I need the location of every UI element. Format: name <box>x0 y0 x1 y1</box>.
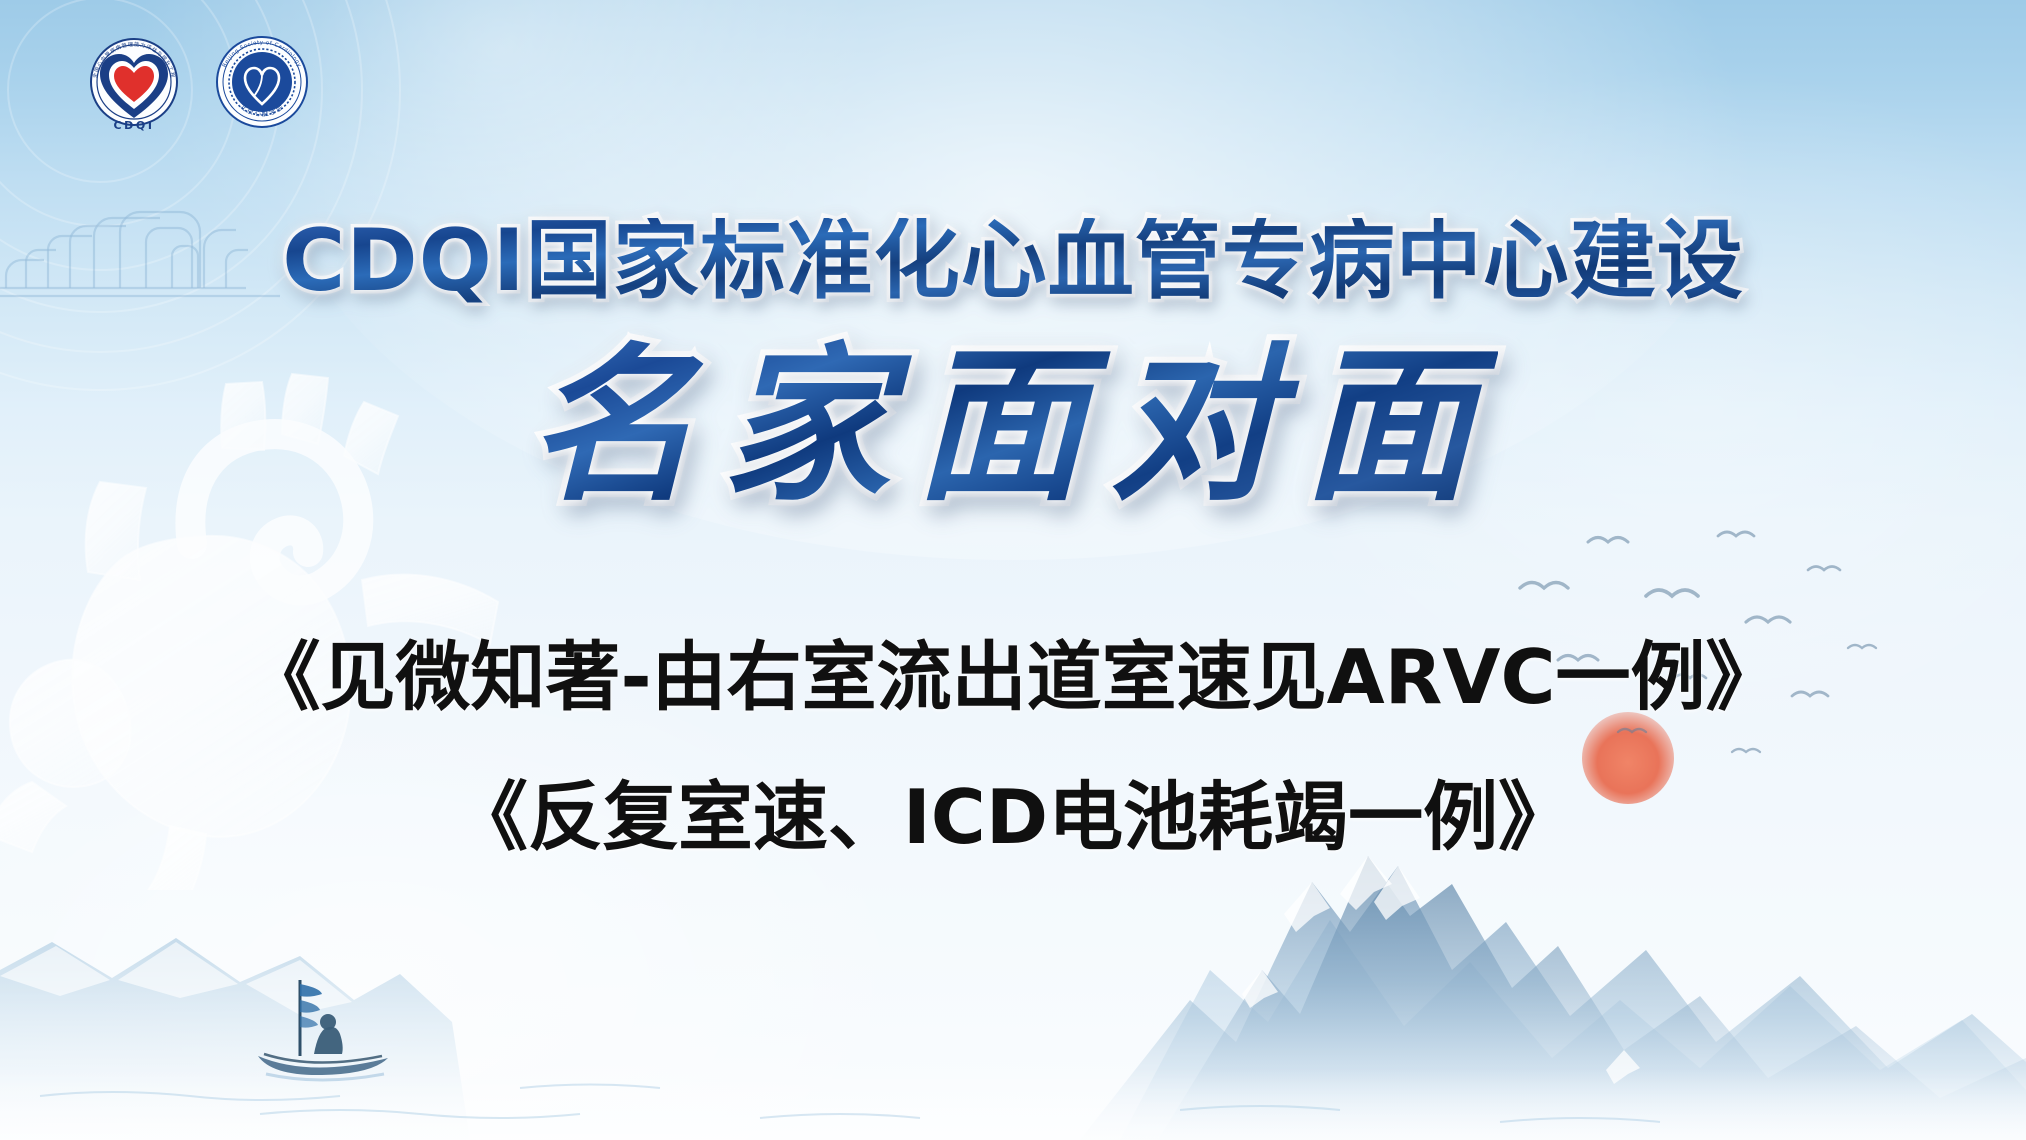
series-name: 名家面对面 <box>528 333 1498 518</box>
cdqi-acronym: CDQI <box>113 119 154 132</box>
session-title-1: 《见微知著-由右室流出道室速见ARVC一例》 <box>245 616 1780 725</box>
poster-text-block: CDQI国家标准化心血管专病中心建设 CDQI国家标准化心血管专病中心建设 名家… <box>0 0 2026 1140</box>
cdqi-logo: 全国心血管疾病管理能力评估与提升工程 CDQI <box>82 30 186 134</box>
logo-group: 全国心血管疾病管理能力评估与提升工程 CDQI Beijing Society … <box>82 30 314 134</box>
session-title-2: 《反复室速、ICD电池耗竭一例》 <box>453 756 1573 865</box>
poster-canvas: 全国心血管疾病管理能力评估与提升工程 CDQI Beijing Society … <box>0 0 2026 1140</box>
program-title: CDQI国家标准化心血管专病中心建设 <box>282 218 1744 304</box>
beijing-society-of-cardiology-logo: Beijing Society of Cardiology 北京心脏学会 <box>210 30 314 134</box>
